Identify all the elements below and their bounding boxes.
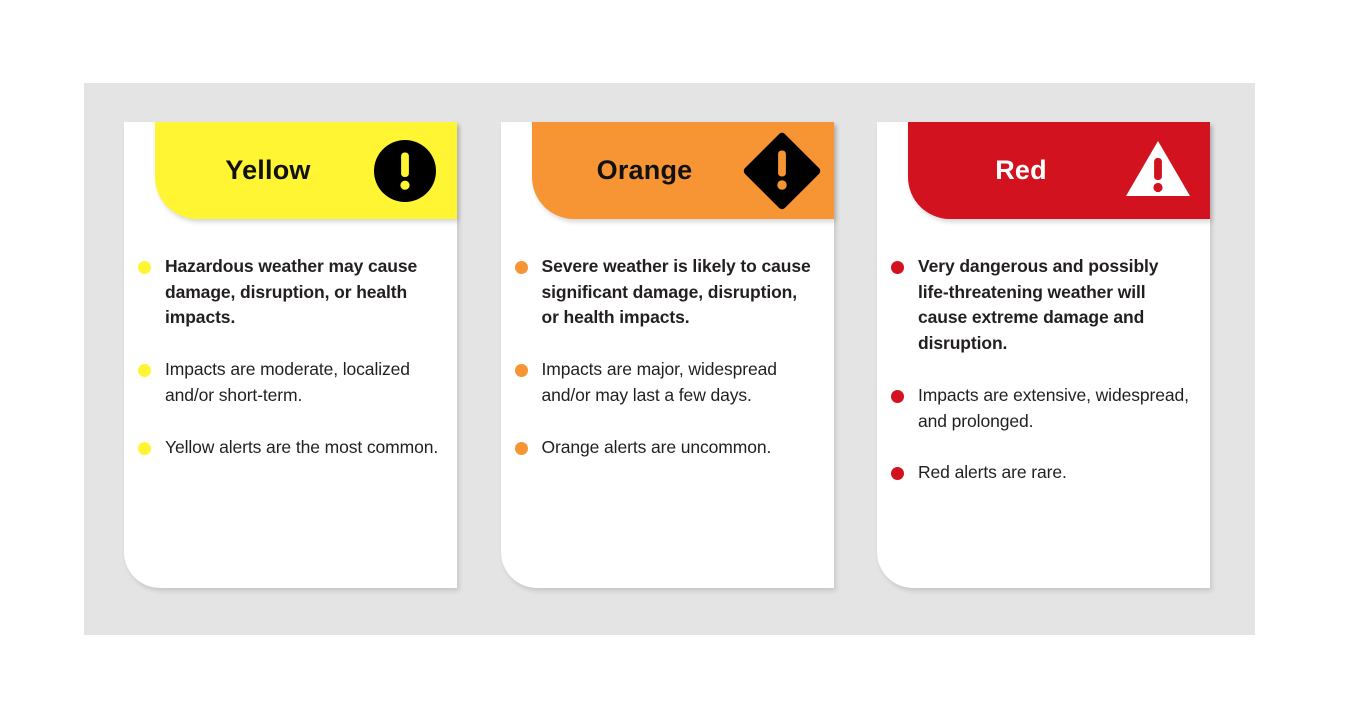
list-item: Severe weather is likely to cause signif… [515, 254, 816, 331]
list-item: Orange alerts are uncommon. [515, 435, 816, 461]
bullet-text: Severe weather is likely to cause signif… [542, 254, 816, 331]
list-item: Very dangerous and possibly life-threate… [891, 254, 1192, 357]
list-item: Impacts are moderate, localized and/or s… [138, 357, 439, 408]
alert-card-red: Red Very dangerous and possibly life-thr… [877, 122, 1210, 588]
bullet-text: Yellow alerts are the most common. [165, 435, 439, 461]
infographic-stage: Yellow Hazardous weather may cause damag… [0, 0, 1356, 718]
bullet-dot-icon [515, 442, 528, 455]
alert-card-orange: Orange Severe weather is likely to cause… [501, 122, 834, 588]
alert-bullet-list-red: Very dangerous and possibly life-threate… [877, 254, 1210, 486]
bullet-text: Hazardous weather may cause damage, disr… [165, 254, 439, 331]
bullet-dot-icon [138, 442, 151, 455]
list-item: Red alerts are rare. [891, 460, 1192, 486]
bullet-text: Orange alerts are uncommon. [542, 435, 816, 461]
list-item: Impacts are extensive, widespread, and p… [891, 383, 1192, 434]
alert-level-title: Red [908, 157, 1112, 184]
bullet-dot-icon [515, 261, 528, 274]
list-item: Impacts are major, widespread and/or may… [515, 357, 816, 408]
exclamation-diamond-icon [736, 125, 828, 217]
list-item: Hazardous weather may cause damage, disr… [138, 254, 439, 331]
bullet-text: Red alerts are rare. [918, 460, 1192, 486]
bullet-text: Impacts are extensive, widespread, and p… [918, 383, 1192, 434]
bullet-dot-icon [891, 467, 904, 480]
alert-card-header-yellow: Yellow [155, 122, 457, 219]
bullet-text: Impacts are moderate, localized and/or s… [165, 357, 439, 408]
exclamation-triangle-icon [1112, 125, 1204, 217]
bullet-dot-icon [891, 261, 904, 274]
bullet-text: Very dangerous and possibly life-threate… [918, 254, 1192, 357]
bullet-dot-icon [515, 364, 528, 377]
exclamation-circle-icon [359, 125, 451, 217]
bullet-dot-icon [138, 364, 151, 377]
bullet-dot-icon [138, 261, 151, 274]
alert-bullet-list-yellow: Hazardous weather may cause damage, disr… [124, 254, 457, 460]
alert-card-header-orange: Orange [532, 122, 834, 219]
list-item: Yellow alerts are the most common. [138, 435, 439, 461]
alert-level-card-row: Yellow Hazardous weather may cause damag… [124, 122, 1210, 588]
alert-card-header-red: Red [908, 122, 1210, 219]
bullet-dot-icon [891, 390, 904, 403]
alert-level-title: Orange [532, 157, 736, 184]
alert-card-yellow: Yellow Hazardous weather may cause damag… [124, 122, 457, 588]
bullet-text: Impacts are major, widespread and/or may… [542, 357, 816, 408]
alert-bullet-list-orange: Severe weather is likely to cause signif… [501, 254, 834, 460]
alert-level-title: Yellow [155, 157, 359, 184]
